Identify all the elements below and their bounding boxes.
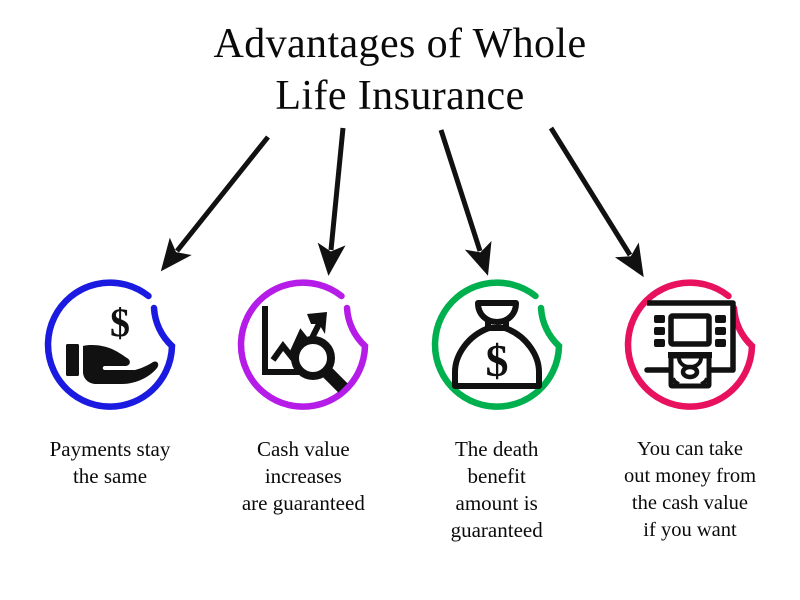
icon-badge-3: $ (413, 262, 581, 430)
arrow-to-item-2 (331, 128, 343, 250)
caption-2-line-1: Cash value (204, 436, 402, 463)
title-line-2: Life Insurance (0, 70, 800, 122)
arrow-to-item-1 (177, 137, 268, 251)
advantage-item-1[interactable]: $ Payments stay the same (14, 262, 206, 490)
advantage-caption-1: Payments stay the same (11, 436, 209, 490)
caption-1-line-2: the same (11, 463, 209, 490)
caption-4-line-2: out money from (591, 463, 789, 490)
advantage-item-3[interactable]: $ The death benefit amount is guaranteed (401, 262, 593, 544)
advantage-caption-4: You can take out money from the cash val… (591, 436, 789, 544)
caption-3-line-2: benefit (398, 463, 596, 490)
advantages-list: $ Payments stay the same (0, 262, 800, 592)
caption-3-line-4: guaranteed (398, 517, 596, 544)
arrow-to-item-4 (551, 128, 630, 255)
svg-text:$: $ (485, 335, 508, 386)
growth-chart-magnifier-icon (251, 294, 355, 398)
hand-holding-dollar-icon: $ (58, 294, 162, 398)
advantage-item-4[interactable]: You can take out money from the cash val… (594, 262, 786, 544)
icon-badge-1: $ (26, 262, 194, 430)
caption-4-line-1: You can take (591, 436, 789, 463)
advantage-item-2[interactable]: Cash value increases are guaranteed (207, 262, 399, 517)
infographic-root: Advantages of Whole Life Insurance (0, 0, 800, 600)
caption-4-line-3: the cash value (591, 490, 789, 517)
svg-text:$: $ (110, 300, 130, 345)
icon-badge-4 (606, 262, 774, 430)
arrow-to-item-3 (441, 130, 480, 251)
advantage-caption-3: The death benefit amount is guaranteed (398, 436, 596, 544)
caption-3-line-1: The death (398, 436, 596, 463)
caption-3-line-3: amount is (398, 490, 596, 517)
icon-badge-2 (219, 262, 387, 430)
caption-1-line-1: Payments stay (11, 436, 209, 463)
title-line-1: Advantages of Whole (0, 18, 800, 70)
caption-4-line-4: if you want (591, 517, 789, 544)
atm-machine-cash-icon (638, 294, 742, 398)
caption-2-line-2: increases (204, 463, 402, 490)
page-title: Advantages of Whole Life Insurance (0, 18, 800, 122)
advantage-caption-2: Cash value increases are guaranteed (204, 436, 402, 517)
caption-2-line-3: are guaranteed (204, 490, 402, 517)
money-bag-dollar-icon: $ (445, 294, 549, 398)
